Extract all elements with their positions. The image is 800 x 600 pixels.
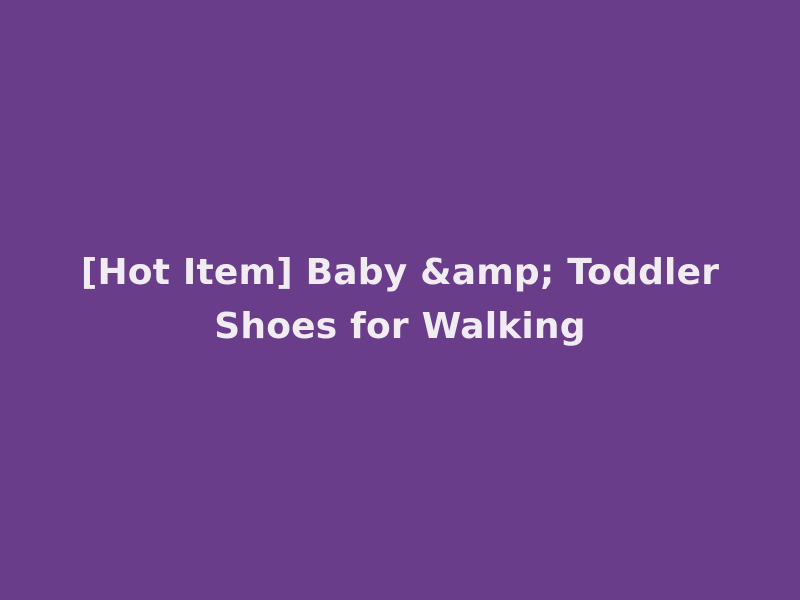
page-title: [Hot Item] Baby &amp; Toddler Shoes for … xyxy=(50,246,750,354)
placeholder-card: [Hot Item] Baby &amp; Toddler Shoes for … xyxy=(0,0,800,600)
title-block: [Hot Item] Baby &amp; Toddler Shoes for … xyxy=(50,246,750,354)
